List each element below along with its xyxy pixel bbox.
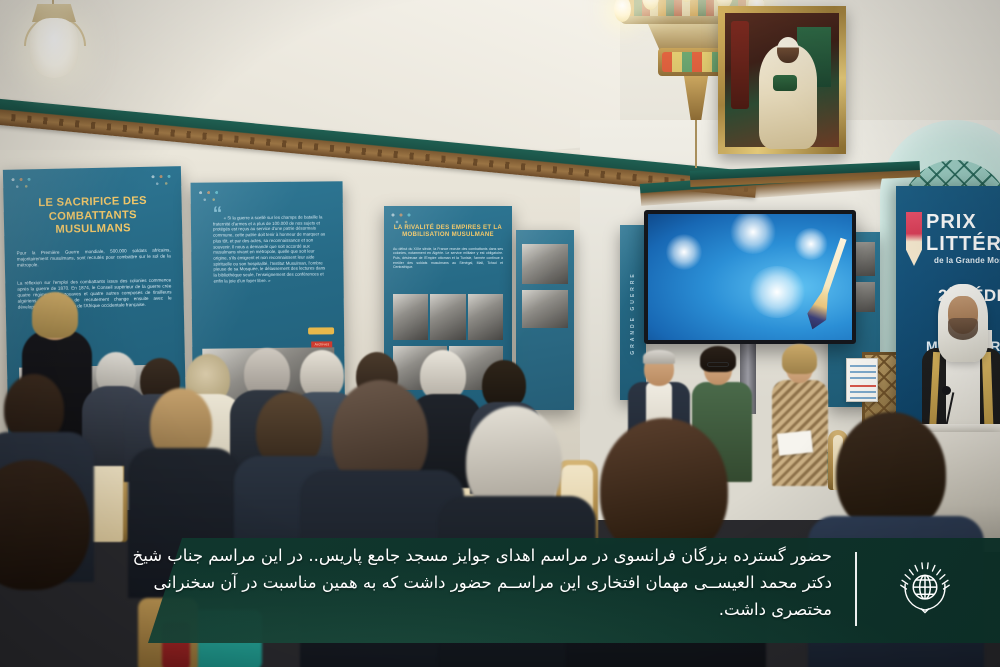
chandelier-chain — [695, 120, 697, 168]
caption-text: حضور گسترده بزرگان فرانسوی در مراسم اهدا… — [132, 542, 832, 624]
caption-line-3: مختصری داشت. — [132, 596, 832, 623]
banner-title-line2: LITTÉRAIRE — [926, 234, 1000, 254]
screen-light-bloom — [794, 228, 828, 260]
panel-paragraph-1: Pour la Première Guerre mondiale, 500.00… — [17, 247, 171, 268]
panel-title: LE SACRIFICE DES COMBATTANTS MUSULMANS — [15, 194, 170, 238]
painting-figure-hands — [773, 75, 797, 91]
panel-photo — [522, 290, 568, 328]
screen-light-bloom — [748, 266, 806, 318]
quote-mark-icon: “ — [213, 203, 223, 224]
panel-ornament-icon — [197, 188, 223, 204]
panel-ornament-icon — [389, 211, 415, 227]
banner-title-line1: PRIX — [926, 212, 977, 232]
panel-photo — [522, 244, 568, 284]
screen-light-bloom — [730, 210, 776, 254]
painting-figure-head — [777, 37, 799, 63]
panel-title: LA RIVALITÉ DES EMPIRES ET LA MOBILISATI… — [393, 224, 503, 239]
quill-feather-icon — [906, 212, 922, 266]
lamp-globe-icon — [30, 18, 78, 78]
banner-subtitle: de la Grande Mosquée de Paris — [934, 256, 1000, 265]
presentation-display — [644, 210, 856, 344]
painting-column-detail — [731, 21, 749, 109]
caption-bar: حضور گسترده بزرگان فرانسوی در مراسم اهدا… — [0, 530, 1000, 667]
panel-ornament-icon — [149, 172, 175, 189]
screen-light-bloom — [666, 234, 702, 270]
muslim-world-league-emblem-icon — [894, 558, 956, 620]
caption-line-1: حضور گسترده بزرگان فرانسوی در مراسم اهدا… — [132, 542, 832, 569]
caption-divider — [855, 552, 857, 626]
caption-line-2: دکتر محمد العیســی مهمان افتخاری این مرا… — [132, 569, 832, 596]
panel-paragraph-1: Au début du XIXe siècle, la France recru… — [393, 247, 503, 270]
screenshot-root: LE SACRIFICE DES COMBATTANTS MUSULMANS P… — [0, 0, 1000, 667]
panel-quote-body: « Si la guerre a scellé sur les champs d… — [213, 214, 325, 283]
panel-quote-text: “ « Si la guerre a scellé sur les champs… — [213, 207, 330, 284]
panel-ornament-icon — [9, 175, 35, 192]
portrait-painting — [718, 6, 846, 154]
